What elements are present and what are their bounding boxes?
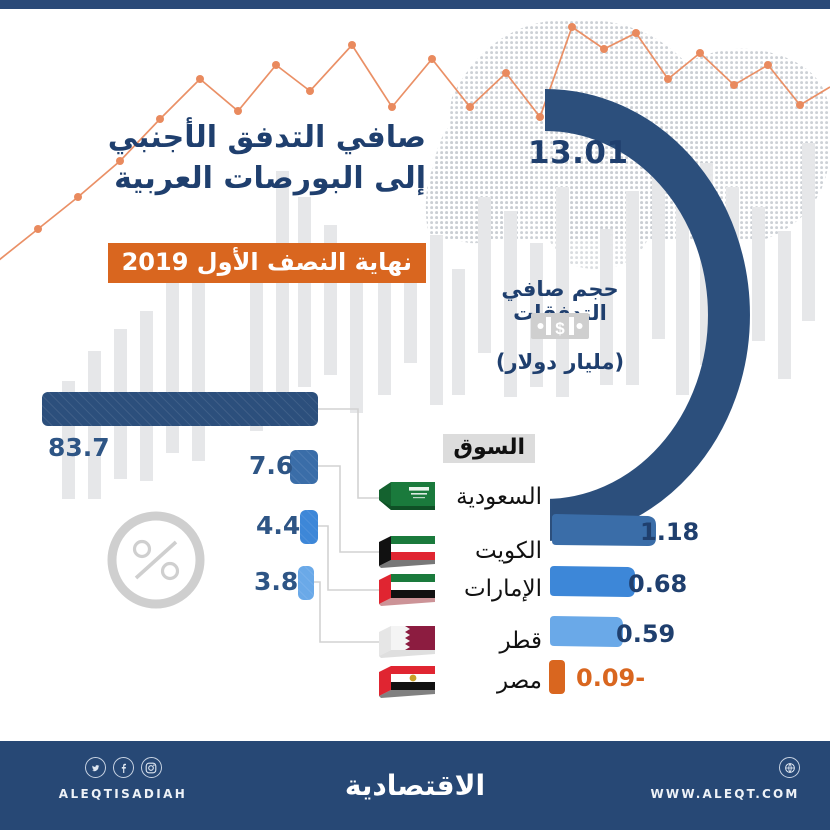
- table-row[interactable]: السعودية: [0, 474, 830, 520]
- value-label-uae: 0.68: [628, 570, 687, 598]
- country-name-uae: الإمارات: [437, 566, 542, 612]
- web-globe-icon[interactable]: [779, 757, 800, 778]
- percent-label-saudi: 83.7: [48, 433, 110, 462]
- footer-bar: ALEQTISADIAH الاقتصادية WWW.ALEQT.COM: [0, 741, 830, 830]
- infographic-page: صافي التدفق الأجنبي إلى البورصات العربية…: [0, 0, 830, 830]
- top-accent-bar: [0, 0, 830, 9]
- twitter-icon[interactable]: [85, 757, 106, 778]
- flag-uae-icon: [371, 568, 435, 610]
- dollar-bill-icon: $: [530, 308, 590, 344]
- flag-egypt-icon: [371, 660, 435, 702]
- value-bar-egypt: [549, 660, 565, 694]
- total-unit: (مليار دولار): [465, 350, 655, 374]
- footer-social-block: ALEQTISADIAH: [48, 757, 198, 801]
- country-name-egypt: مصر: [437, 658, 542, 704]
- website-url: WWW.ALEQT.COM: [650, 787, 800, 801]
- value-label-kuwait: 1.18: [640, 518, 699, 546]
- title-line-1: صافي التدفق الأجنبي: [108, 120, 426, 155]
- footer-logo-block: الاقتصادية: [315, 769, 515, 802]
- table-row[interactable]: مصر: [0, 658, 830, 704]
- title-line-2: إلى البورصات العربية: [108, 159, 426, 200]
- period-badge: نهاية النصف الأول 2019: [108, 243, 426, 283]
- flag-qatar-icon: [371, 620, 435, 662]
- country-name-saudi: السعودية: [437, 474, 542, 520]
- footer-website-block: WWW.ALEQT.COM: [650, 757, 800, 801]
- svg-text:$: $: [555, 319, 565, 338]
- table-row[interactable]: الإمارات: [0, 566, 830, 612]
- value-bar-qatar: [548, 616, 626, 648]
- market-column-header: السوق: [443, 434, 535, 463]
- instagram-icon[interactable]: [141, 757, 162, 778]
- social-handle: ALEQTISADIAH: [48, 787, 198, 801]
- social-icons: [48, 757, 198, 778]
- flag-saudi-arabia-icon: [371, 476, 435, 518]
- web-icon-wrap: [650, 757, 800, 778]
- total-value: 13.01: [528, 135, 629, 171]
- brand-logo: الاقتصادية: [315, 769, 515, 802]
- value-label-egypt: 0.09-: [576, 664, 645, 692]
- facebook-icon[interactable]: [113, 757, 134, 778]
- page-title: صافي التدفق الأجنبي إلى البورصات العربية: [108, 118, 426, 200]
- percent-bar-saudi: [42, 392, 318, 426]
- value-bar-uae: [548, 566, 638, 598]
- value-label-qatar: 0.59: [616, 620, 675, 648]
